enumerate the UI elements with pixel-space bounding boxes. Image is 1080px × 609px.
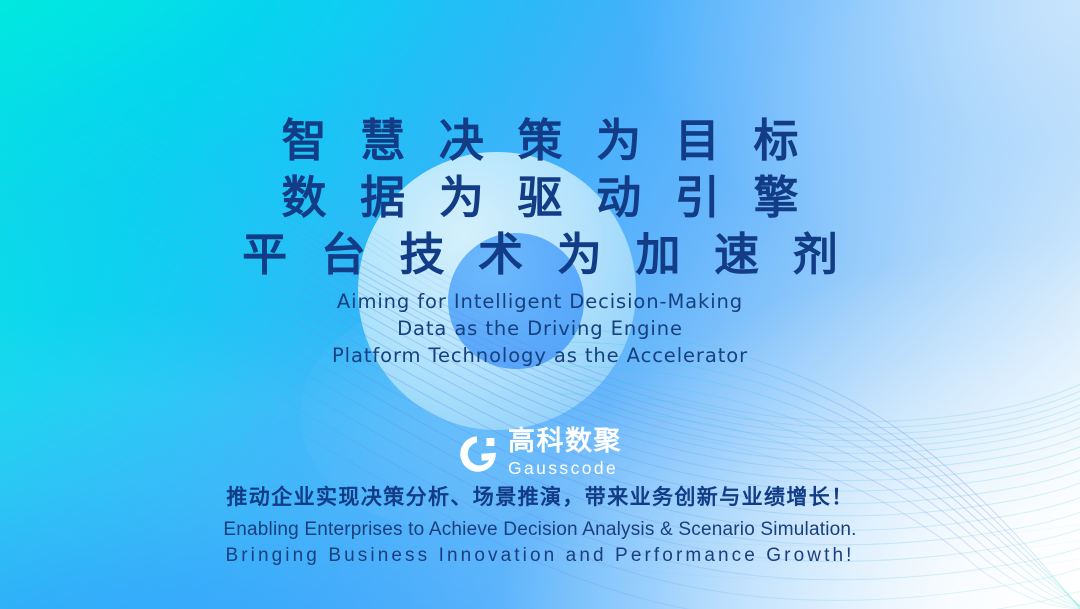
subheadline-line-1: Aiming for Intelligent Decision-Making — [332, 288, 748, 315]
brand-name-en: Gausscode — [508, 458, 622, 479]
headline-block: 智 慧 决 策 为 目 标 数 据 为 驱 动 引 擎 平 台 技 术 为 加 … — [233, 112, 847, 283]
headline-line-1: 智 慧 决 策 为 目 标 — [233, 112, 847, 169]
brand-logo: 高科数聚 Gausscode — [0, 428, 1080, 479]
subheadline-line-3: Platform Technology as the Accelerator — [332, 342, 748, 369]
footer-tagline-cn: 推动企业实现决策分析、场景推演，带来业务创新与业绩增长！ — [0, 482, 1080, 512]
subheadline-line-2: Data as the Driving Engine — [332, 315, 748, 342]
brand-wordmark: 高科数聚 Gausscode — [508, 428, 622, 479]
headline-line-3: 平 台 技 术 为 加 速 剂 — [233, 226, 847, 283]
gausscode-g-mark-icon — [458, 434, 498, 474]
footer-tagline-en-line-1: Enabling Enterprises to Achieve Decision… — [0, 517, 1080, 543]
footer-tagline-en-line-2: Bringing Business Innovation and Perform… — [0, 543, 1080, 569]
poster-canvas: 智 慧 决 策 为 目 标 数 据 为 驱 动 引 擎 平 台 技 术 为 加 … — [0, 0, 1080, 609]
headline-line-2: 数 据 为 驱 动 引 擎 — [233, 169, 847, 226]
brand-name-cn: 高科数聚 — [508, 428, 622, 456]
footer-block: 推动企业实现决策分析、场景推演，带来业务创新与业绩增长！ Enabling En… — [0, 482, 1080, 569]
subheadline-block: Aiming for Intelligent Decision-Making D… — [332, 288, 748, 369]
footer-tagline-en: Enabling Enterprises to Achieve Decision… — [0, 517, 1080, 569]
